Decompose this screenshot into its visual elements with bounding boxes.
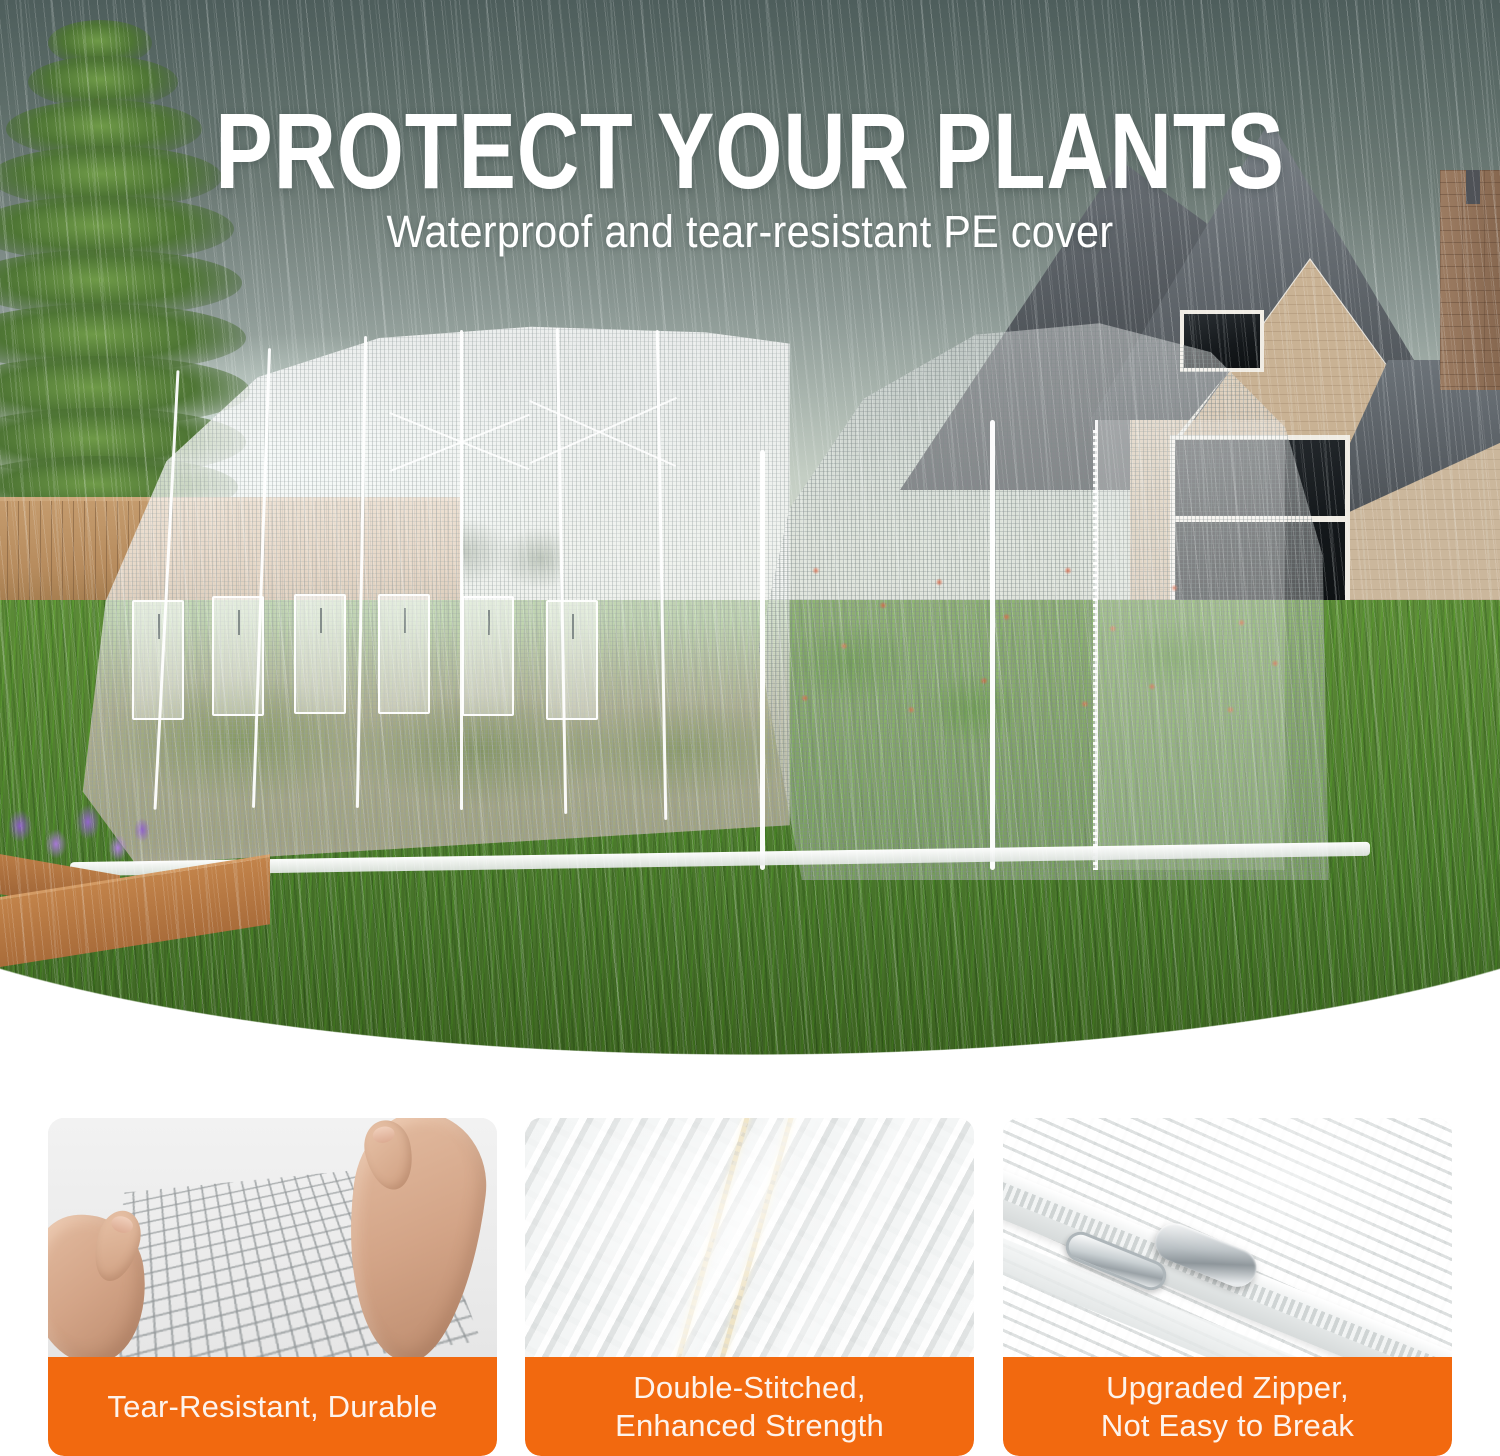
feature-card-upgraded-zipper[interactable]: Upgraded Zipper, Not Easy to Break bbox=[1003, 1118, 1452, 1456]
chimney-notch bbox=[1466, 170, 1480, 204]
greenhouse-window-flap[interactable] bbox=[378, 594, 430, 714]
hero-banner: PROTECT YOUR PLANTS Waterproof and tear-… bbox=[0, 0, 1500, 1060]
greenhouse-window-flap[interactable] bbox=[462, 596, 514, 716]
feature-card-double-stitched[interactable]: Double-Stitched, Enhanced Strength bbox=[525, 1118, 974, 1456]
greenhouse-window-flap[interactable] bbox=[546, 600, 598, 720]
greenhouse-door[interactable] bbox=[1095, 420, 1285, 870]
feature-panels: Tear-Resistant, Durable Double-Stitched,… bbox=[0, 1118, 1500, 1456]
feature-card-tear-resistant[interactable]: Tear-Resistant, Durable bbox=[48, 1118, 497, 1456]
feature-caption: Tear-Resistant, Durable bbox=[48, 1357, 497, 1456]
greenhouse-mesh-texture bbox=[60, 310, 820, 870]
greenhouse-window-flap[interactable] bbox=[212, 596, 264, 716]
zipper-closeup-image bbox=[1003, 1118, 1452, 1357]
greenhouse-window-flap[interactable] bbox=[294, 594, 346, 714]
page-subtitle: Waterproof and tear-resistant PE cover bbox=[60, 206, 1440, 258]
greenhouse-side-panel bbox=[60, 310, 820, 870]
metal-shine-highlight bbox=[1003, 1118, 1452, 1357]
greenhouse-rib bbox=[460, 330, 463, 810]
feature-caption: Double-Stitched, Enhanced Strength bbox=[525, 1357, 974, 1456]
greenhouse-door-zipper[interactable] bbox=[1093, 430, 1097, 870]
greenhouse-frame-post bbox=[990, 420, 995, 870]
hands-stretching-mesh-image bbox=[48, 1118, 497, 1357]
woven-fabric-closeup-image bbox=[525, 1118, 974, 1357]
thumbnail bbox=[109, 1214, 135, 1235]
fabric-gloss-highlight bbox=[525, 1118, 974, 1357]
page-title: PROTECT YOUR PLANTS bbox=[150, 88, 1350, 213]
tunnel-greenhouse bbox=[60, 300, 1380, 900]
greenhouse-window-flap[interactable] bbox=[132, 600, 184, 720]
greenhouse-frame-post bbox=[760, 450, 765, 870]
thumbnail bbox=[371, 1125, 396, 1145]
feature-caption: Upgraded Zipper, Not Easy to Break bbox=[1003, 1357, 1452, 1456]
